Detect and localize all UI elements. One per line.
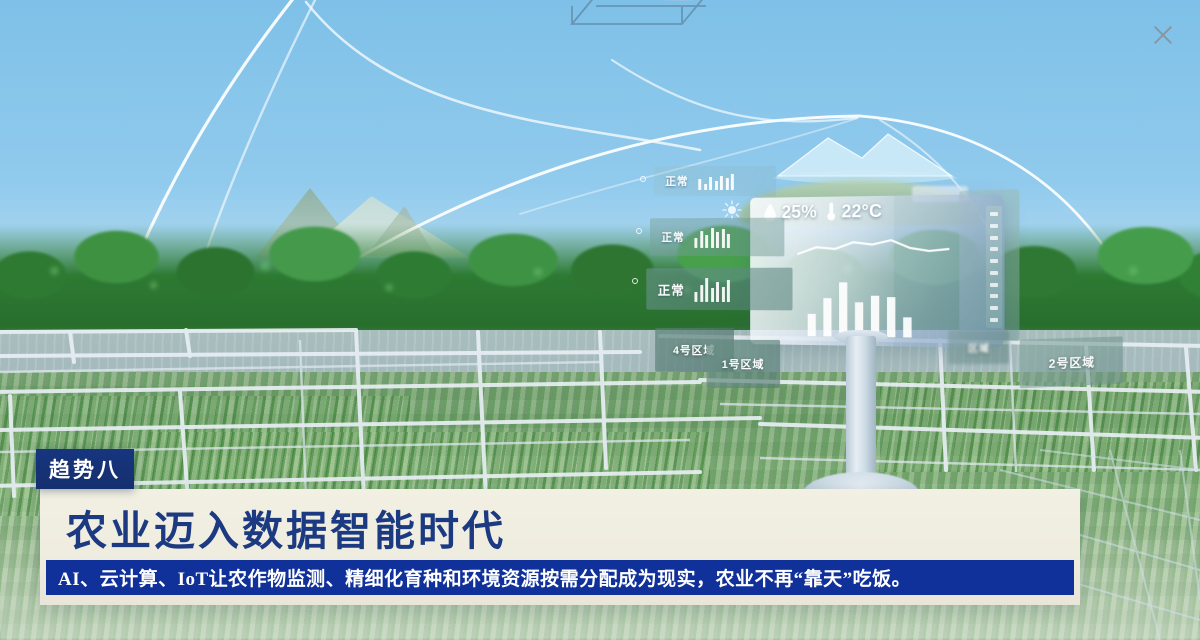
bar: [720, 176, 723, 190]
bar: [694, 238, 697, 248]
zone-plate-2[interactable]: 2号区域: [1020, 336, 1123, 388]
bar: [903, 317, 911, 337]
bar: [716, 232, 719, 248]
bar: [887, 297, 895, 337]
bar: [721, 287, 724, 302]
temperature-metric: 22°C: [826, 200, 883, 222]
bar: [731, 174, 734, 190]
bar: [705, 278, 708, 302]
bar: [700, 231, 703, 249]
bar: [727, 280, 730, 302]
page-title: 农业迈入数据智能时代: [66, 497, 506, 557]
circle-marker-icon: [640, 176, 646, 182]
status-card-3[interactable]: 正常: [646, 268, 792, 311]
bar: [700, 285, 703, 302]
status-card-2-label: 正常: [661, 229, 684, 245]
gauge-segment: [990, 271, 998, 275]
lower-third-card: 农业迈入数据智能时代 AI、云计算、IoT让农作物监测、精细化育种和环境资源按需…: [40, 489, 1080, 605]
status-card-1-bars: [698, 172, 734, 190]
temperature-value: 22°C: [841, 200, 882, 221]
status-card-3-label: 正常: [658, 280, 685, 299]
circle-marker-icon: [636, 228, 642, 234]
bar: [698, 179, 701, 190]
humidity-value: 25%: [781, 201, 817, 222]
gauge-segment: [990, 259, 998, 263]
bar: [711, 228, 714, 249]
gauge-segment: [990, 247, 998, 251]
zone-plate-blurred[interactable]: 区域: [948, 330, 1009, 364]
subtitle-bar: AI、云计算、IoT让农作物监测、精细化育种和环境资源按需分配成为现实，农业不再…: [46, 560, 1074, 595]
status-card-2-bars: [694, 226, 729, 249]
bar: [808, 314, 816, 336]
gauge-segment: [990, 212, 998, 216]
status-card-3-bars: [694, 276, 729, 301]
bar: [704, 184, 707, 190]
pedestal-column: [846, 336, 876, 482]
gauge-segment: [990, 236, 998, 240]
panel-charts: [763, 231, 963, 344]
status-card-1-label: 正常: [665, 173, 688, 189]
gauge-segment: [990, 224, 998, 228]
bar: [725, 178, 728, 190]
bar: [714, 181, 717, 190]
bar: [705, 235, 708, 248]
bar: [823, 298, 831, 336]
subtitle-text: AI、云计算、IoT让农作物监测、精细化育种和环境资源按需分配成为现实，农业不再…: [46, 564, 911, 591]
bar: [727, 234, 730, 248]
gauge-segment: [990, 318, 998, 322]
close-icon[interactable]: [1150, 22, 1176, 48]
status-card-2[interactable]: 正常: [650, 218, 784, 257]
bar: [839, 282, 847, 336]
vertical-gauge-strip: [986, 206, 1002, 328]
bar: [709, 177, 712, 190]
circle-marker-icon: [632, 278, 638, 284]
bar: [721, 229, 724, 248]
zone-plate-1[interactable]: 1号区域: [706, 340, 780, 388]
scene-stage: 25% 22°C: [0, 0, 1200, 640]
bar: [694, 292, 697, 302]
gauge-segment: [990, 283, 998, 287]
thermometer-icon: [826, 202, 837, 222]
gauge-segment: [990, 306, 998, 310]
panel-metrics-bar: 25% 22°C: [750, 194, 1004, 227]
status-card-1[interactable]: 正常: [654, 166, 777, 196]
gauge-segment: [990, 294, 998, 298]
bar: [716, 282, 719, 301]
trend-badge: 趋势八: [36, 449, 134, 489]
bar: [711, 288, 714, 302]
holographic-terrain-icon: [770, 128, 960, 186]
